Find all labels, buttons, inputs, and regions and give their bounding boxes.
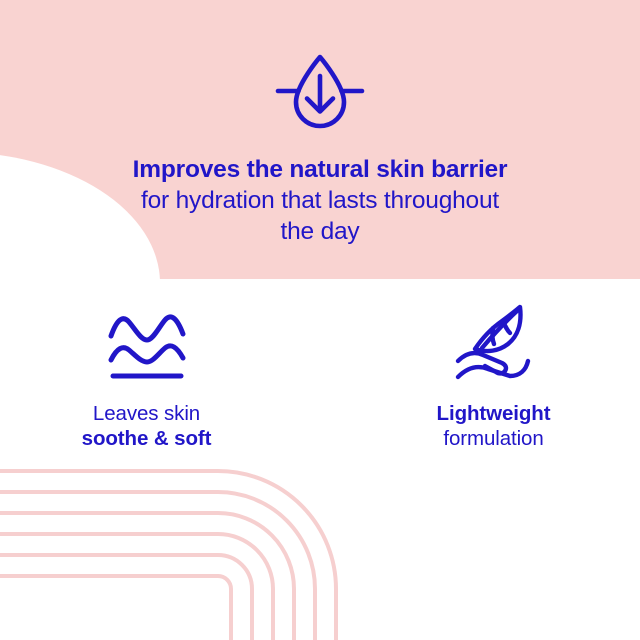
feature-soothe-soft: Leaves skin soothe & soft (54, 303, 239, 451)
arc-5 (0, 555, 252, 640)
concentric-arcs-svg (0, 450, 360, 640)
arc-3 (0, 513, 294, 640)
headline-text: Improves the natural skin barrier for hy… (124, 154, 516, 247)
feature-caption-lightweight: Lightweight formulation (401, 401, 586, 451)
feather-in-hand-icon (452, 303, 536, 383)
wave-middle (111, 346, 183, 362)
arc-1 (0, 471, 336, 640)
feature-line-1: Leaves skin (54, 401, 239, 426)
arc-4 (0, 534, 273, 640)
feature-caption-soothe: Leaves skin soothe & soft (54, 401, 239, 451)
feather-barb-1 (492, 328, 494, 344)
feature-line-2: soothe & soft (54, 426, 239, 451)
feature-line-1: Lightweight (401, 401, 586, 426)
infographic-canvas: Improves the natural skin barrier for hy… (0, 0, 640, 640)
feature-lightweight: Lightweight formulation (401, 303, 586, 451)
hero-section: Improves the natural skin barrier for hy… (0, 52, 640, 247)
feature-row: Leaves skin soothe & soft (0, 303, 640, 451)
hand-palm (458, 361, 528, 377)
wave-top (111, 317, 183, 340)
arc-2 (0, 492, 315, 640)
headline-regular-part: for hydration that lasts throughout the … (141, 187, 499, 245)
headline-bold-part: Improves the natural skin barrier (133, 156, 508, 183)
arc-6 (0, 576, 231, 640)
feature-line-2: formulation (401, 426, 586, 451)
concentric-arcs-decoration (0, 450, 360, 640)
water-droplet-absorb-icon (272, 52, 368, 136)
soothing-waves-icon (105, 303, 189, 383)
